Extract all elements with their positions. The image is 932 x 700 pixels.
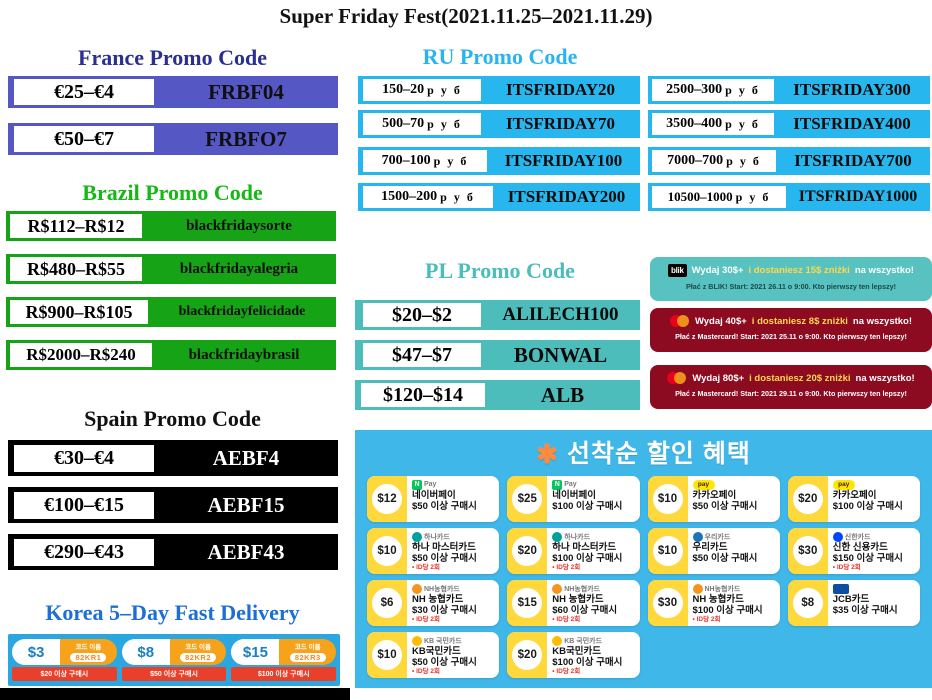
korea-card[interactable]: $30 신한카드 신한 신용카드 $150 이상 구매시 • ID당 2회: [788, 528, 920, 574]
promo-code: ITSFRIDAY1000: [786, 188, 930, 206]
kakao-pay-icon: pay: [833, 480, 855, 490]
banner-subtext: Płać z BLIK! Start: 2021 26.11 o 9:00. K…: [650, 277, 932, 291]
naver-pay-icon: N: [412, 480, 422, 490]
ru-promo-row[interactable]: 3500–400 р у б ITSFRIDAY400: [648, 110, 930, 138]
coupon-code: 82KR2: [180, 653, 216, 662]
card-brand: Pay: [424, 481, 436, 488]
promo-amount: 1500–200: [381, 189, 437, 205]
card-brand: NH농협카드: [424, 584, 460, 594]
card-amount: $15: [512, 588, 542, 618]
banner-post-text: na wszystko!: [855, 265, 914, 276]
jcb-card-icon: [833, 584, 849, 594]
promo-amount: 500–70: [382, 116, 424, 132]
mastercard-logo: [670, 315, 690, 327]
banner-subtext: Płać z Mastercard! Start: 2021 25.11 o 9…: [650, 327, 932, 341]
banner-post-text: na wszystko!: [853, 316, 912, 327]
card-amount: $30: [653, 588, 683, 618]
coupon-min-spend: $100 이상 구매시: [231, 667, 336, 681]
coupon-code: 82KR3: [290, 653, 326, 662]
card-condition: $35 이상 구매시: [833, 605, 916, 616]
card-note: • ID당 2회: [833, 564, 916, 572]
card-condition: $50 이상 구매시: [412, 501, 495, 512]
card-name: NH 농협카드: [412, 594, 495, 605]
card-note: • ID당 2회: [412, 564, 495, 572]
card-condition: $150 이상 구매시: [833, 553, 916, 564]
korea-card[interactable]: $20 KB 국민카드 KB국민카드 $100 이상 구매시 • ID당 2회: [507, 632, 639, 678]
coupon-code-label: 코드 이름: [295, 643, 321, 652]
nh-card-icon: [412, 584, 422, 594]
promo-code: blackfridayalegria: [142, 261, 336, 278]
promo-code: ITSFRIDAY200: [493, 187, 640, 207]
currency-label: р у б: [434, 154, 469, 169]
promo-amount-wrap: 1500–200 р у б: [363, 186, 493, 208]
banner-highlight-text: i dostaniesz 15$ zniżki: [748, 265, 849, 276]
coupon-code-label: 코드 이름: [76, 643, 102, 652]
card-name: 네이버페이: [412, 490, 495, 501]
card-amount-badge: $8: [788, 580, 828, 626]
korea-card[interactable]: $10 우리카드 우리카드 $50 이상 구매시: [648, 528, 780, 574]
ru-section-heading: RU Promo Code: [355, 44, 645, 70]
france-promo-row[interactable]: €25–€4 FRBF04: [8, 76, 338, 108]
promo-amount: $47–$7: [363, 343, 481, 367]
banner-highlight-text: i dostaniesz 8$ zniżki: [752, 316, 848, 327]
card-note: • ID당 2회: [412, 668, 495, 676]
card-note: • ID당 2회: [552, 564, 635, 572]
promo-code: ITSFRIDAY400: [774, 114, 930, 134]
korea-card[interactable]: $25 NPay 네이버페이 $100 이상 구매시: [507, 476, 639, 522]
korea-card[interactable]: $8 JCB카드 $35 이상 구매시: [788, 580, 920, 626]
spain-section-heading: Spain Promo Code: [0, 406, 345, 432]
coupon-ticket[interactable]: $3 코드 이름 82KR1 $20 이상 구매시: [12, 639, 117, 681]
card-amount: $12: [372, 484, 402, 514]
promo-code: AEBF4: [154, 446, 338, 471]
promo-amount: 150–20: [382, 82, 424, 98]
korea-first-come-panel: ✱ 선착순 할인 혜택 $12 NPay 네이버페이 $50 이상 구매시 $2…: [355, 430, 932, 688]
promo-code: ITSFRIDAY20: [481, 80, 640, 100]
card-condition: $50 이상 구매시: [412, 553, 495, 564]
promo-code: FRBF04: [154, 80, 338, 105]
promo-amount: $120–$14: [361, 383, 485, 407]
coupon-code-label: 코드 이름: [185, 643, 211, 652]
brazil-promo-row[interactable]: R$2000–R$240 blackfridaybrasil: [6, 340, 336, 370]
card-brand: KB 국민카드: [564, 636, 602, 646]
card-condition: $100 이상 구매시: [693, 605, 776, 616]
hana-card-icon: [552, 532, 562, 542]
card-amount: $10: [653, 484, 683, 514]
promo-code: blackfridayfelicidade: [148, 304, 336, 320]
blik-promo-banner[interactable]: blik Wydaj 30$+ i dostaniesz 15$ zniżki …: [650, 257, 932, 301]
card-amount-badge: $30: [788, 528, 828, 574]
kb-card-icon: [552, 636, 562, 646]
promo-code: FRBFO7: [154, 127, 338, 152]
page-title: Super Friday Fest(2021.11.25–2021.11.29): [0, 2, 932, 30]
currency-label: р у б: [725, 83, 760, 98]
coupon-ticket[interactable]: $8 코드 이름 82KR2 $50 이상 구매시: [122, 639, 227, 681]
banner-highlight-text: i dostaniesz 20$ zniżki: [749, 373, 850, 384]
card-amount: $25: [512, 484, 542, 514]
promo-code: BONWAL: [481, 343, 640, 368]
card-name: 카카오페이: [693, 490, 776, 501]
kakao-pay-icon: pay: [693, 480, 715, 490]
banner-subtext: Płać z Mastercard! Start: 2021 29.11 o 9…: [650, 384, 932, 398]
spain-promo-row[interactable]: €290–€43 AEBF43: [8, 534, 338, 570]
card-name: NH 농협카드: [552, 594, 635, 605]
card-amount: $20: [512, 536, 542, 566]
banner-pre-text: Wydaj 30$+: [692, 265, 744, 276]
promo-code: ALILECH100: [481, 304, 640, 326]
korea-delivery-coupon-strip: $3 코드 이름 82KR1 $20 이상 구매시 $8 코드 이름 82KR2: [8, 634, 340, 686]
pl-promo-row[interactable]: $120–$14 ALB: [355, 380, 640, 410]
korea-card-grid: $12 NPay 네이버페이 $50 이상 구매시 $25 NPay 네이버페이…: [355, 469, 932, 678]
promo-amount: R$480–R$55: [10, 257, 142, 281]
card-amount-badge: $30: [648, 580, 688, 626]
card-brand: 신한카드: [845, 532, 871, 542]
promo-amount-wrap: 10500–1000 р у б: [652, 186, 786, 208]
card-amount: $10: [372, 536, 402, 566]
card-amount: $20: [512, 640, 542, 670]
promo-amount-wrap: 150–20 р у б: [363, 79, 481, 101]
card-brand: 하나카드: [424, 532, 450, 542]
coupon-ticket-list: $3 코드 이름 82KR1 $20 이상 구매시 $8 코드 이름 82KR2: [8, 634, 340, 681]
promo-code: AEBF43: [154, 540, 338, 565]
kb-card-icon: [412, 636, 422, 646]
promo-code: ITSFRIDAY70: [481, 114, 640, 134]
pl-promo-row[interactable]: $47–$7 BONWAL: [355, 340, 640, 370]
promo-poster: Super Friday Fest(2021.11.25–2021.11.29)…: [0, 0, 932, 700]
card-amount: $10: [372, 640, 402, 670]
card-condition: $100 이상 구매시: [552, 553, 635, 564]
card-note: • ID당 2회: [552, 668, 635, 676]
card-amount-badge: $10: [648, 528, 688, 574]
spain-promo-row[interactable]: €30–€4 AEBF4: [8, 440, 338, 476]
card-amount-badge: $10: [367, 632, 407, 678]
nh-card-icon: [552, 584, 562, 594]
mastercard-promo-banner[interactable]: Wydaj 40$+ i dostaniesz 8$ zniżki na wsz…: [650, 308, 932, 352]
promo-amount-wrap: 500–70 р у б: [363, 113, 481, 135]
brazil-promo-row[interactable]: R$480–R$55 blackfridayalegria: [6, 254, 336, 284]
ru-promo-row[interactable]: 7000–700 р у б ITSFRIDAY700: [648, 147, 930, 175]
korea-delivery-heading: Korea 5–Day Fast Delivery: [0, 600, 345, 626]
coupon-code: 82KR1: [70, 653, 106, 662]
card-condition: $100 이상 구매시: [833, 501, 916, 512]
card-amount-badge: $20: [788, 476, 828, 522]
promo-amount: 7000–700: [667, 153, 723, 169]
card-amount-badge: $10: [648, 476, 688, 522]
promo-amount: $20–$2: [363, 303, 481, 327]
card-condition: $50 이상 구매시: [693, 501, 776, 512]
korea-card[interactable]: $6 NH농협카드 NH 농협카드 $30 이상 구매시 • ID당 2회: [367, 580, 499, 626]
card-brand: NH농협카드: [705, 584, 741, 594]
ru-promo-row[interactable]: 10500–1000 р у б ITSFRIDAY1000: [648, 183, 930, 211]
card-amount: $6: [372, 588, 402, 618]
promo-amount: R$112–R$12: [10, 214, 142, 238]
promo-amount: R$900–R$105: [10, 300, 148, 324]
france-promo-row[interactable]: €50–€7 FRBFO7: [8, 123, 338, 155]
korea-card[interactable]: $20 하나카드 하나 마스터카드 $100 이상 구매시 • ID당 2회: [507, 528, 639, 574]
card-name: 신한 신용카드: [833, 542, 916, 553]
card-condition: $100 이상 구매시: [552, 657, 635, 668]
pl-section-heading: PL Promo Code: [355, 258, 645, 284]
currency-label: р у б: [440, 190, 475, 205]
korea-delivery-footnote: • 모든 할인 코드는 '5일 배송' 태그가 있는 상품에만 적용 가능합니다…: [8, 681, 340, 686]
promo-amount: €50–€7: [14, 126, 154, 152]
ru-promo-row[interactable]: 700–100 р у б ITSFRIDAY100: [358, 147, 640, 175]
promo-amount-wrap: 2500–300 р у б: [652, 79, 774, 101]
card-amount-badge: $12: [367, 476, 407, 522]
banner-pre-text: Wydaj 40$+: [695, 316, 747, 327]
korea-card[interactable]: $10 하나카드 하나 마스터카드 $50 이상 구매시 • ID당 2회: [367, 528, 499, 574]
currency-label: р у б: [427, 83, 462, 98]
coupon-price: $15: [231, 639, 279, 665]
coupon-min-spend: $20 이상 구매시: [12, 667, 117, 681]
promo-code: ITSFRIDAY300: [774, 80, 930, 100]
mastercard-logo: [667, 372, 687, 384]
card-brand: Pay: [564, 481, 576, 488]
currency-label: р у б: [725, 117, 760, 132]
ru-promo-row[interactable]: 2500–300 р у б ITSFRIDAY300: [648, 76, 930, 104]
card-name: 네이버페이: [552, 490, 635, 501]
france-section-heading: France Promo Code: [0, 45, 345, 71]
card-name: KB국민카드: [552, 646, 635, 657]
woori-card-icon: [693, 532, 703, 542]
card-name: 우리카드: [693, 542, 776, 553]
card-amount: $30: [793, 536, 823, 566]
card-amount-badge: $10: [367, 528, 407, 574]
korea-panel-title: 선착순 할인 혜택: [567, 439, 751, 469]
banner-post-text: na wszystko!: [856, 373, 915, 384]
korea-card[interactable]: $10 KB 국민카드 KB국민카드 $50 이상 구매시 • ID당 2회: [367, 632, 499, 678]
promo-amount: €25–€4: [14, 79, 154, 105]
promo-amount-wrap: 7000–700 р у б: [652, 150, 776, 172]
currency-label: р у б: [736, 190, 771, 205]
coupon-price: $8: [122, 639, 170, 665]
korea-card[interactable]: $20 pay 카카오페이 $100 이상 구매시: [788, 476, 920, 522]
promo-code: ITSFRIDAY100: [487, 151, 640, 171]
card-name: 하나 마스터카드: [412, 542, 495, 553]
card-condition: $100 이상 구매시: [552, 501, 635, 512]
brazil-section-heading: Brazil Promo Code: [0, 180, 345, 206]
mastercard-promo-banner[interactable]: Wydaj 80$+ i dostaniesz 20$ zniżki na ws…: [650, 365, 932, 409]
promo-amount: 2500–300: [666, 82, 722, 98]
bottom-left-black-bar: [0, 688, 350, 700]
card-amount-badge: $20: [507, 632, 547, 678]
promo-amount: €30–€4: [14, 445, 154, 472]
card-amount-badge: $25: [507, 476, 547, 522]
card-amount: $10: [653, 536, 683, 566]
promo-code: blackfridaybrasil: [152, 347, 336, 364]
promo-amount: 3500–400: [666, 116, 722, 132]
card-amount-badge: $6: [367, 580, 407, 626]
card-amount-badge: $15: [507, 580, 547, 626]
card-brand: 하나카드: [564, 532, 590, 542]
coupon-min-spend: $50 이상 구매시: [122, 667, 227, 681]
promo-code: ITSFRIDAY700: [776, 151, 930, 171]
nh-card-icon: [693, 584, 703, 594]
promo-amount: 10500–1000: [668, 189, 733, 205]
card-name: NH 농협카드: [693, 594, 776, 605]
korea-card[interactable]: $30 NH농협카드 NH 농협카드 $100 이상 구매시 • ID당 2회: [648, 580, 780, 626]
korea-card[interactable]: $15 NH농협카드 NH 농협카드 $60 이상 구매시 • ID당 2회: [507, 580, 639, 626]
card-amount: $8: [793, 588, 823, 618]
card-name: 카카오페이: [833, 490, 916, 501]
card-name: 하나 마스터카드: [552, 542, 635, 553]
hana-card-icon: [412, 532, 422, 542]
currency-label: р у б: [726, 154, 761, 169]
card-brand: 우리카드: [705, 532, 731, 542]
banner-pre-text: Wydaj 80$+: [692, 373, 744, 384]
card-condition: $30 이상 구매시: [412, 605, 495, 616]
pl-promo-row[interactable]: $20–$2 ALILECH100: [355, 300, 640, 330]
promo-amount: €290–€43: [14, 539, 154, 566]
blik-logo: blik: [668, 264, 687, 277]
card-condition: $50 이상 구매시: [412, 657, 495, 668]
shinhan-card-icon: [833, 532, 843, 542]
promo-amount-wrap: 3500–400 р у б: [652, 113, 774, 135]
ru-promo-row[interactable]: 1500–200 р у б ITSFRIDAY200: [358, 183, 640, 211]
korea-card[interactable]: $10 pay 카카오페이 $50 이상 구매시: [648, 476, 780, 522]
card-condition: $60 이상 구매시: [552, 605, 635, 616]
card-condition: $50 이상 구매시: [693, 553, 776, 564]
card-note: • ID당 2회: [552, 616, 635, 624]
promo-code: blackfridaysorte: [142, 218, 336, 235]
brazil-promo-row[interactable]: R$900–R$105 blackfridayfelicidade: [6, 297, 336, 327]
spain-promo-row[interactable]: €100–€15 AEBF15: [8, 487, 338, 523]
ru-promo-row[interactable]: 150–20 р у б ITSFRIDAY20: [358, 76, 640, 104]
naver-pay-icon: N: [552, 480, 562, 490]
card-brand: KB 국민카드: [424, 636, 462, 646]
asterisk-icon: ✱: [536, 441, 559, 467]
promo-amount: R$2000–R$240: [10, 343, 152, 367]
brazil-promo-row[interactable]: R$112–R$12 blackfridaysorte: [6, 211, 336, 241]
card-name: KB국민카드: [412, 646, 495, 657]
card-amount: $20: [793, 484, 823, 514]
promo-amount-wrap: 700–100 р у б: [363, 150, 487, 172]
korea-card[interactable]: $12 NPay 네이버페이 $50 이상 구매시: [367, 476, 499, 522]
currency-label: р у б: [427, 117, 462, 132]
coupon-price: $3: [12, 639, 60, 665]
ru-promo-row[interactable]: 500–70 р у б ITSFRIDAY70: [358, 110, 640, 138]
coupon-ticket[interactable]: $15 코드 이름 82KR3 $100 이상 구매시: [231, 639, 336, 681]
korea-panel-title-row: ✱ 선착순 할인 혜택: [355, 430, 932, 469]
card-note: • ID당 2회: [693, 616, 776, 624]
card-note: • ID당 2회: [412, 616, 495, 624]
promo-code: ALB: [485, 383, 640, 408]
card-brand: NH농협카드: [564, 584, 600, 594]
card-amount-badge: $20: [507, 528, 547, 574]
promo-code: AEBF15: [154, 493, 338, 518]
promo-amount: €100–€15: [14, 492, 154, 519]
promo-amount: 700–100: [382, 153, 431, 169]
card-name: JCB카드: [833, 594, 916, 605]
